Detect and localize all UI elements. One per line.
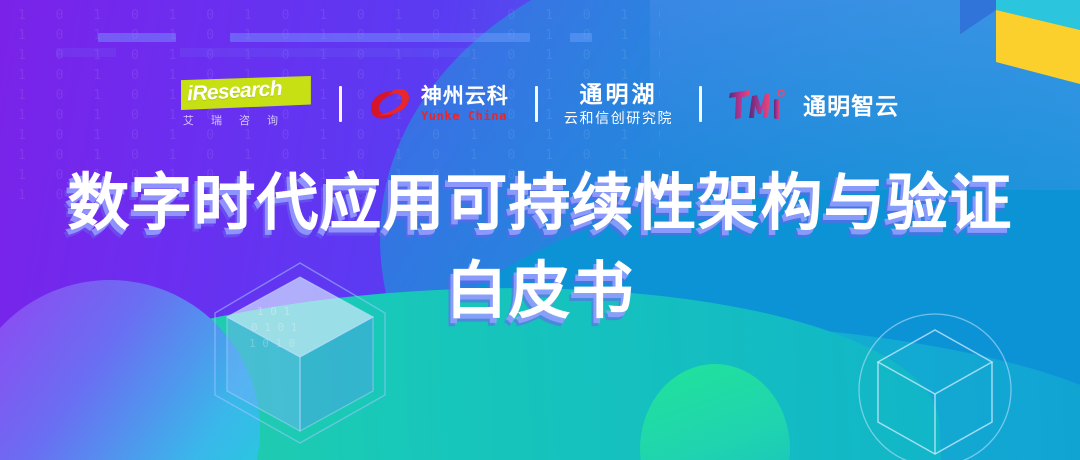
iresearch-subtitle: 艾 瑞 咨 询 <box>183 112 311 128</box>
title-line-1: 数字时代应用可持续性架构与验证 <box>67 169 1012 238</box>
logo-divider <box>699 86 702 122</box>
partner-logo-row: iResearch 艾 瑞 咨 询 神州云科 Yunke China 通明湖 <box>0 74 1080 134</box>
accent-bar <box>230 33 530 42</box>
logo-yunke: 神州云科 Yunke China <box>342 74 535 134</box>
yunke-swirl-mark-icon <box>368 86 412 122</box>
accent-bar <box>180 48 470 57</box>
logo-tmi: 通明智云 <box>702 74 925 134</box>
title-line-2: 白皮书 <box>0 248 1080 336</box>
yunke-name-en: Yunke China <box>421 110 509 122</box>
tmi-name-cn: 通明智云 <box>803 87 899 121</box>
logo-tongminghu: 通明湖 云和信创研究院 <box>538 74 699 134</box>
accent-bar <box>56 48 116 57</box>
tmi-mark-icon <box>728 87 794 121</box>
logo-divider <box>535 86 538 122</box>
svg-text:1 0 1 0: 1 0 1 0 <box>249 337 295 350</box>
whitepaper-cover-banner: 1 0 1 0 1 0 1 0 1 0 1 0 1 0 1 0 1 0 1 0 … <box>0 0 1080 460</box>
logo-divider <box>339 86 342 122</box>
logo-iresearch: iResearch 艾 瑞 咨 询 <box>155 74 339 134</box>
accent-bar <box>98 33 176 42</box>
tongminghu-subtitle: 云和信创研究院 <box>564 112 673 126</box>
accent-bar <box>570 33 592 42</box>
blue-wave <box>116 329 944 460</box>
page-title: 数字时代应用可持续性架构与验证 白皮书 <box>0 160 1080 336</box>
isometric-cube-yellow-icon <box>960 0 1080 84</box>
tongminghu-name-cn: 通明湖 <box>564 83 673 106</box>
yunke-name-cn: 神州云科 <box>421 86 509 107</box>
green-ellipse <box>640 364 790 460</box>
